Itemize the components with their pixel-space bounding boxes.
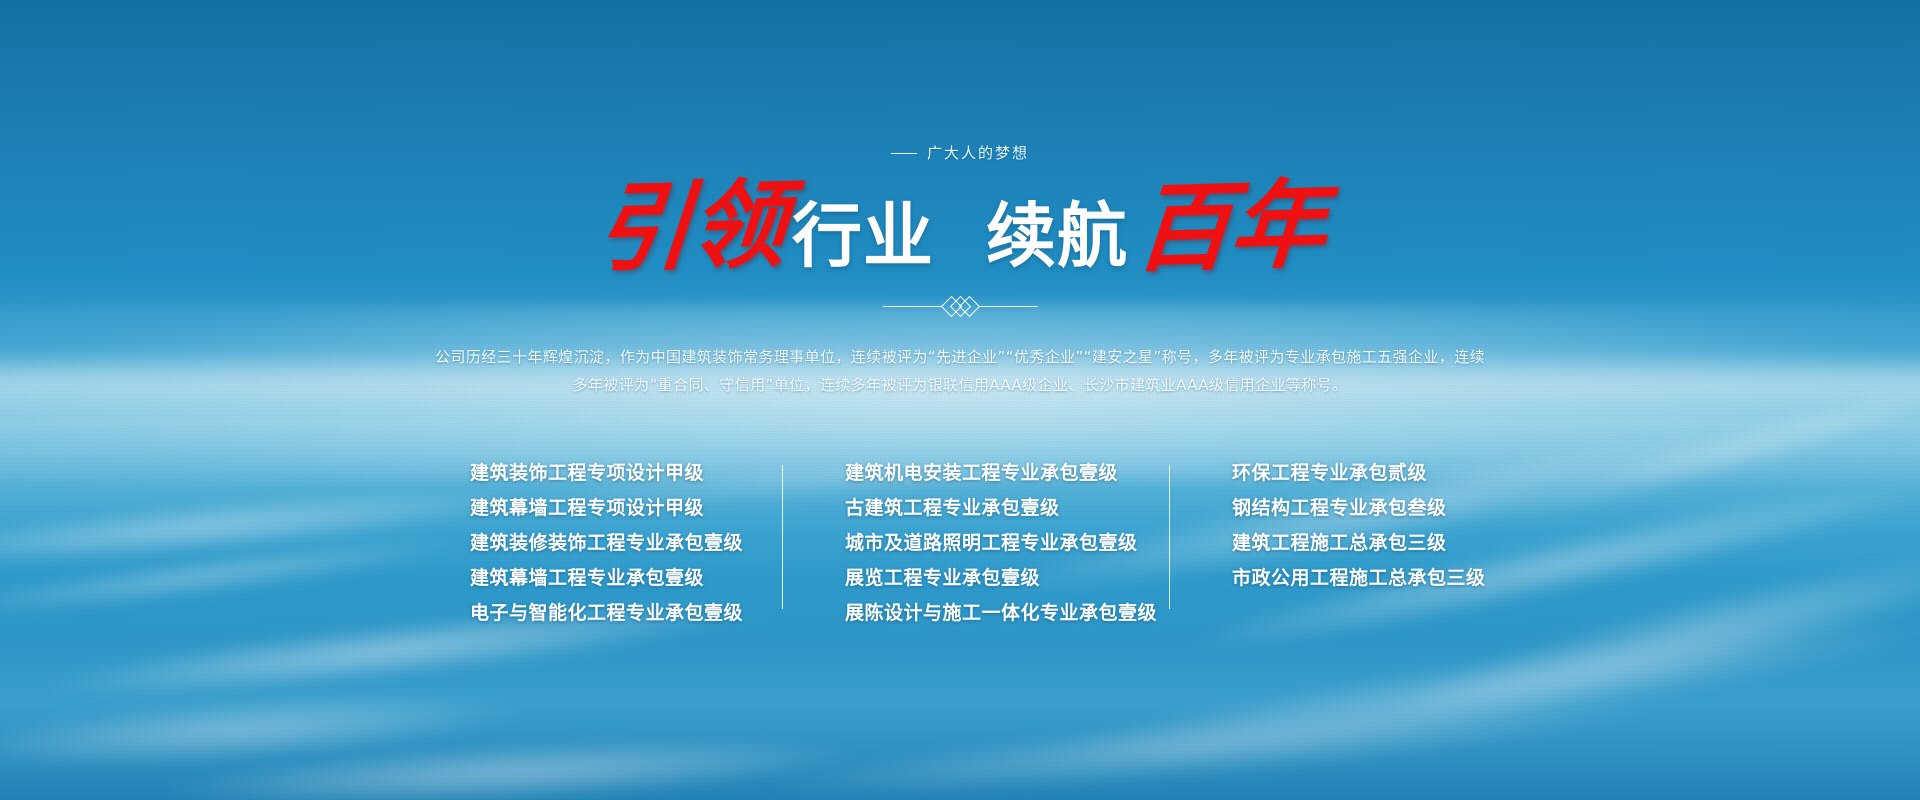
qualification-item: 环保工程专业承包贰级 — [1232, 461, 1450, 486]
description-line-1: 公司历经三十年辉煌沉淀，作为中国建筑装饰常务理事单位，连续被评为“先进企业”“优… — [435, 348, 1485, 366]
qualification-item: 城市及道路照明工程专业承包壹级 — [845, 531, 1107, 556]
hero-eyebrow-text: 广大人的梦想 — [927, 144, 1029, 162]
headline-plain-part-3: 续航 — [980, 201, 1134, 271]
qualification-item: 钢结构工程专业承包叁级 — [1232, 496, 1450, 521]
hero-content: 广大人的梦想 引领 行业 续航 百年 公司历经三十年辉煌沉淀，作为中国建筑装饰常… — [0, 0, 1920, 800]
divider-line-right — [980, 306, 1038, 307]
company-description: 公司历经三十年辉煌沉淀，作为中国建筑装饰常务理事单位，连续被评为“先进企业”“优… — [430, 343, 1490, 399]
qualification-item: 电子与智能化工程专业承包壹级 — [470, 601, 720, 626]
qualification-item: 建筑装饰工程专项设计甲级 — [470, 461, 720, 486]
qualification-item: 建筑幕墙工程专业承包壹级 — [470, 566, 720, 591]
headline-brush-part-4: 百年 — [1130, 177, 1330, 278]
hero-banner: 广大人的梦想 引领 行业 续航 百年 公司历经三十年辉煌沉淀，作为中国建筑装饰常… — [0, 0, 1920, 800]
column-divider — [1169, 465, 1170, 609]
qualifications-list: 建筑装饰工程专项设计甲级 建筑幕墙工程专项设计甲级 建筑装修装饰工程专业承包壹级… — [470, 461, 1450, 626]
qualification-item: 展陈设计与施工一体化专业承包壹级 — [845, 601, 1107, 626]
qualification-column-3: 环保工程专业承包贰级 钢结构工程专业承包叁级 建筑工程施工总承包三级 市政公用工… — [1232, 461, 1450, 591]
column-divider — [782, 465, 783, 609]
qualification-item: 展览工程专业承包壹级 — [845, 566, 1107, 591]
qualification-item: 建筑机电安装工程专业承包壹级 — [845, 461, 1107, 486]
diamond-group-icon — [947, 299, 974, 314]
headline-plain-part-2: 行业 — [786, 201, 940, 271]
triple-diamond-divider-icon — [883, 295, 1038, 317]
em-dash-icon — [891, 153, 917, 154]
headline-brush-part-1: 引领 — [590, 177, 790, 278]
hero-headline: 引领 行业 续航 百年 — [594, 179, 1326, 275]
qualification-item: 市政公用工程施工总承包三级 — [1232, 566, 1450, 591]
description-line-2: 多年被评为“重合同、守信用”单位，连续多年被评为银联信用AAA级企业、长沙市建筑… — [573, 376, 1348, 394]
hero-eyebrow: 广大人的梦想 — [891, 142, 1029, 163]
qualification-item: 建筑工程施工总承包三级 — [1232, 531, 1450, 556]
qualification-column-1: 建筑装饰工程专项设计甲级 建筑幕墙工程专项设计甲级 建筑装修装饰工程专业承包壹级… — [470, 461, 720, 626]
qualification-column-2: 建筑机电安装工程专业承包壹级 古建筑工程专业承包壹级 城市及道路照明工程专业承包… — [845, 461, 1107, 626]
qualification-item: 建筑装修装饰工程专业承包壹级 — [470, 531, 720, 556]
divider-line-left — [883, 306, 941, 307]
qualification-item: 古建筑工程专业承包壹级 — [845, 496, 1107, 521]
qualification-item: 建筑幕墙工程专项设计甲级 — [470, 496, 720, 521]
